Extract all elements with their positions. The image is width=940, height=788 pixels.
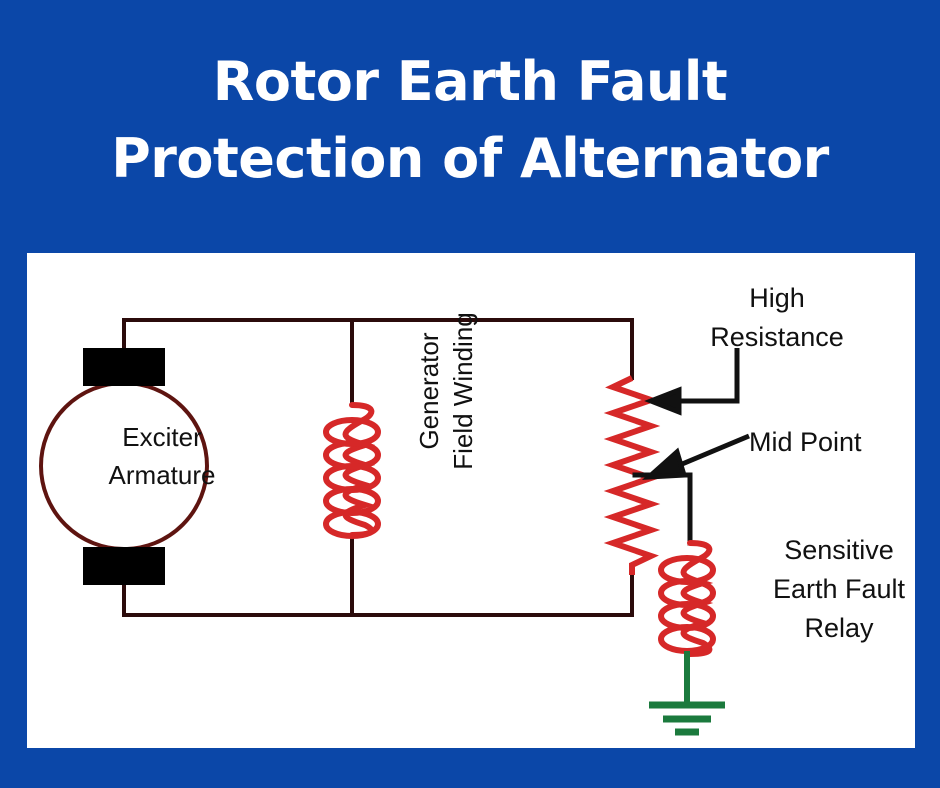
label-generator-field-winding: Generator Field Winding	[413, 261, 473, 521]
label-exciter-line-1: Exciter	[72, 419, 252, 457]
label-exciter-armature: Exciter Armature	[72, 419, 252, 494]
label-high-resistance-line-1: High	[667, 279, 887, 318]
page-title-line-1: Rotor Earth Fault	[0, 44, 940, 121]
label-relay-line-3: Relay	[739, 609, 939, 648]
circuit-diagram-panel: Exciter Armature Generator Field Winding…	[27, 253, 915, 748]
label-high-resistance: High Resistance	[667, 279, 887, 357]
label-mid-point-text: Mid Point	[749, 423, 940, 462]
label-relay-line-1: Sensitive	[739, 531, 939, 570]
mid-point-leader	[649, 436, 749, 477]
generator-field-winding-coil	[326, 405, 378, 536]
high-resistance-leader	[651, 348, 737, 412]
label-sensitive-earth-fault-relay: Sensitive Earth Fault Relay	[739, 531, 939, 648]
exciter-brush-top	[83, 348, 165, 386]
mid-point-arrowhead	[649, 452, 684, 477]
sensitive-earth-fault-relay-coil	[661, 543, 713, 654]
earth-ground-symbol	[649, 651, 725, 732]
page-title-line-2: Protection of Alternator	[0, 121, 940, 198]
label-relay-line-2: Earth Fault	[739, 570, 939, 609]
page-title: Rotor Earth Fault Protection of Alternat…	[0, 44, 940, 197]
high-resistance-arrowhead	[651, 390, 679, 412]
exciter-brush-bottom	[83, 547, 165, 585]
label-mid-point: Mid Point	[749, 423, 940, 462]
label-high-resistance-line-2: Resistance	[667, 318, 887, 357]
label-exciter-line-2: Armature	[72, 457, 252, 495]
label-field-winding-line-2: Field Winding	[447, 261, 481, 521]
label-field-winding-line-1: Generator	[413, 261, 447, 521]
page-root: Rotor Earth Fault Protection of Alternat…	[0, 0, 940, 788]
